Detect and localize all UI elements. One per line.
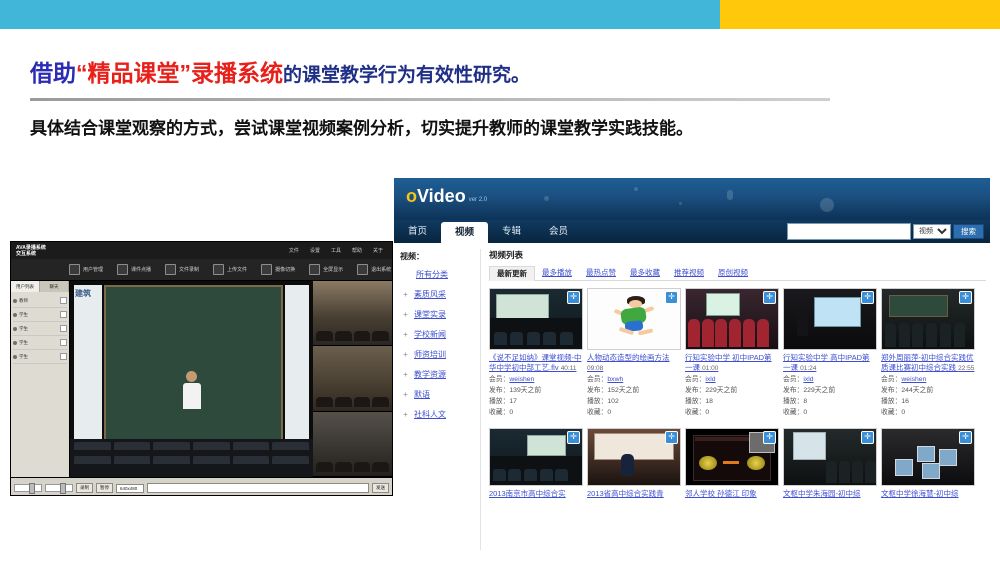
teacher-head [186, 371, 197, 382]
record-button[interactable]: 录制 [76, 483, 93, 493]
video-plays: 播放：17 [489, 397, 583, 407]
user-icon [13, 327, 17, 331]
record-icon [165, 264, 176, 275]
toolbar-button-exit[interactable]: 退出系统 [357, 264, 391, 275]
video-member: 会员：ixld [685, 375, 779, 385]
video-plays: 播放：8 [783, 397, 877, 407]
video-duration: 09:08 [587, 365, 603, 372]
toolbar-label-4: 摄像切换 [275, 266, 295, 273]
video-sort-tabs: 最新更新 最多播放 最热点赞 最多收藏 推荐视频 原创视频 [489, 265, 986, 281]
recorder-menu-about[interactable]: 关于 [373, 247, 383, 254]
tab-recommended[interactable]: 推荐视频 [667, 266, 711, 280]
sidebar-item-label: 师资培训 [414, 350, 446, 359]
add-to-album-icon[interactable]: ✛ [665, 431, 678, 444]
nav-item-album[interactable]: 专辑 [488, 220, 535, 243]
member-label: 会员： [489, 376, 509, 383]
published-value: 139天之前 [509, 387, 541, 394]
member-link[interactable]: ixld [803, 376, 813, 383]
video-title[interactable]: 2013省高中综合实践青 [587, 489, 681, 499]
tab-most-played[interactable]: 最多播放 [535, 266, 579, 280]
recorder-toolbar: 用户管理 课件点播 文件录制 上传文件 摄像切换 全屏显示 退出系统 [11, 259, 392, 281]
video-card[interactable]: ✛ 人物动态造型的绘画方法 09:08 会员：bxwh 发布：152天之前 播放… [587, 288, 681, 418]
video-plays: 播放：18 [685, 397, 779, 407]
published-label: 发布： [587, 387, 607, 394]
sidebar-item-school-news[interactable]: +学校新闻 [400, 329, 476, 340]
add-to-album-icon[interactable]: ✛ [861, 431, 874, 444]
toolbar-button-record-file[interactable]: 文件录制 [165, 264, 199, 275]
plus-icon[interactable]: + [403, 350, 408, 359]
toolbar-label-1: 课件点播 [131, 266, 151, 273]
sidebar-item-label: 学校新闻 [414, 330, 446, 339]
site-nav: 首页 视频 专辑 会员 视频 搜索 [394, 220, 990, 243]
recorder-body: 用户列表 聊天 教师 学生 学生 学生 [11, 281, 392, 477]
decorative-bubble [727, 190, 733, 200]
recorder-footer-controls: 录制 暂停 640x480 发送 [11, 477, 392, 496]
site-header: o Video ver 2.0 [394, 178, 990, 220]
slide-headline: 借助“精品课堂”录播系统的课堂教学行为有效性研究。 [30, 58, 890, 91]
people-icon [69, 264, 80, 275]
tab-latest[interactable]: 最新更新 [489, 266, 535, 281]
member-label: 会员： [783, 376, 803, 383]
tab-original[interactable]: 原创视频 [711, 266, 755, 280]
recorder-app-logo: AVA录播系统 交互系统 [14, 245, 46, 257]
video-title[interactable]: 文枢中学朱海园-初中综 [783, 489, 877, 499]
slide-top-accent-bar [0, 0, 1000, 29]
sidebar-item-silent-language[interactable]: +默语 [400, 389, 476, 400]
add-to-album-icon[interactable]: ✛ [567, 291, 580, 304]
checkbox-icon[interactable] [60, 325, 67, 332]
user-icon [13, 299, 17, 303]
toolbar-button-user-manage[interactable]: 用户管理 [69, 264, 103, 275]
video-member: 会员：weishen [489, 375, 583, 385]
seat-row [70, 453, 313, 467]
member-label: 会员： [587, 376, 607, 383]
video-thumbnail[interactable]: ✛ [783, 428, 877, 486]
page-title: 借助“精品课堂”录播系统的课堂教学行为有效性研究。 [30, 58, 890, 91]
list-icon [213, 264, 224, 275]
recorder-camera-thumbnails [313, 281, 392, 477]
video-title[interactable]: 郑外周丽萍-初中综合实践优质课比赛初中综合实践 22:55 [881, 353, 975, 374]
search-input[interactable] [787, 223, 911, 240]
recorder-menu-settings[interactable]: 设置 [310, 247, 320, 254]
sidebar-item-label: 教学资源 [414, 370, 446, 379]
video-card[interactable]: ✛ 行知实验中学 高中IPAD第一课 01:24 会员：ixld 发布：229天… [783, 288, 877, 418]
video-duration: 40:11 [561, 365, 577, 372]
plus-icon[interactable]: + [403, 410, 408, 419]
accent-bar-yellow [720, 0, 1000, 29]
favs-label: 收藏： [783, 409, 803, 416]
video-card[interactable]: ✛ 《说不足如纳》课堂视频-中华中学初中部工艺.flv 40:11 会员：wei… [489, 288, 583, 418]
plays-label: 播放： [783, 398, 803, 405]
user-row-label-1: 学生 [19, 312, 28, 318]
plays-value: 18 [705, 398, 713, 405]
list-item[interactable]: 学生 [13, 308, 67, 322]
toolbar-label-6: 退出系统 [371, 266, 391, 273]
recorder-window-menu[interactable]: 文件 设置 工具 帮助 关于 [289, 247, 389, 254]
user-row-label-0: 教师 [19, 298, 28, 304]
sidebar-item-teacher-training[interactable]: +师资培训 [400, 349, 476, 360]
title-part-3: 的课堂教学行为有效性研究。 [283, 65, 530, 86]
decorative-bubble [820, 198, 834, 212]
video-published: 发布：229天之前 [783, 386, 877, 396]
sidebar-item-teaching-resources[interactable]: +教学资源 [400, 369, 476, 380]
video-thumbnail[interactable]: ✛ [685, 428, 779, 486]
checkbox-icon[interactable] [60, 339, 67, 346]
tab-most-liked[interactable]: 最热点赞 [579, 266, 623, 280]
video-card[interactable]: ✛ 文枢中学徐海慧-初中综 [881, 428, 975, 499]
favs-value: 0 [901, 409, 905, 416]
plus-icon[interactable]: + [403, 290, 408, 299]
camera-icon [261, 264, 272, 275]
video-grid-row-2: ✛ 2013南京市高中综合实 ✛ 2013省高中综合实践青 [489, 428, 986, 499]
toolbar-button-fullscreen[interactable]: 全屏显示 [309, 264, 343, 275]
add-to-album-icon[interactable]: ✛ [959, 431, 972, 444]
recorder-panel-tabs[interactable]: 用户列表 聊天 [11, 281, 69, 292]
checkbox-icon[interactable] [60, 297, 67, 304]
add-to-album-icon[interactable]: ✛ [567, 431, 580, 444]
plus-icon[interactable]: + [403, 390, 408, 399]
logo-text: Video [417, 187, 466, 205]
sidebar-item-social-science[interactable]: +社科人文 [400, 409, 476, 420]
member-link[interactable]: bxwh [607, 376, 623, 383]
whiteboard-text: 建筑 [74, 285, 102, 302]
panel-tab-chat[interactable]: 聊天 [40, 281, 69, 292]
tab-most-favorited[interactable]: 最多收藏 [623, 266, 667, 280]
video-published: 发布：229天之前 [685, 386, 779, 396]
student-seats [70, 439, 313, 477]
add-to-album-icon[interactable]: ✛ [861, 291, 874, 304]
message-input[interactable] [147, 483, 369, 493]
video-thumbnail[interactable]: ✛ [587, 288, 681, 350]
published-value: 229天之前 [705, 387, 737, 394]
logo-o-letter: o [406, 187, 417, 205]
recorder-user-panel: 用户列表 聊天 教师 学生 学生 学生 [11, 281, 70, 477]
video-card[interactable]: ✛ 2013省高中综合实践青 [587, 428, 681, 499]
video-thumbnail[interactable]: ✛ [489, 288, 583, 350]
user-icon [13, 355, 17, 359]
video-member: 会员：weishen [881, 375, 975, 385]
video-title[interactable]: 行知实验中学 初中IPAD第一课 01:00 [685, 353, 779, 374]
recorder-titlebar: AVA录播系统 交互系统 文件 设置 工具 帮助 关于 [11, 242, 392, 259]
logo-version: ver 2.0 [469, 197, 487, 203]
recorder-app-name-line2: 交互系统 [16, 251, 46, 257]
volume-slider-2[interactable] [45, 484, 73, 492]
sidebar-title: 视频： [400, 251, 476, 262]
user-row-label-3: 学生 [19, 340, 28, 346]
sidebar-item-quality-style[interactable]: +素质风采 [400, 289, 476, 300]
video-member: 会员：ixld [783, 375, 877, 385]
plays-value: 17 [509, 398, 517, 405]
nav-item-member[interactable]: 会员 [535, 220, 582, 243]
plus-icon[interactable]: + [403, 310, 408, 319]
video-title-text: 行知实验中学 初中IPAD第一课 [685, 353, 772, 372]
site-body: 视频： 所有分类 +素质风采 +课堂实录 +学校新闻 +师资培训 +教学资源 +… [394, 243, 990, 550]
published-value: 152天之前 [607, 387, 639, 394]
plays-label: 播放： [685, 398, 705, 405]
published-value: 244天之前 [901, 387, 933, 394]
list-item[interactable]: 学生 [13, 322, 67, 336]
toolbar-button-camera-switch[interactable]: 摄像切换 [261, 264, 295, 275]
video-thumbnail[interactable]: ✛ [587, 428, 681, 486]
video-title[interactable]: 《说不足如纳》课堂视频-中华中学初中部工艺.flv 40:11 [489, 353, 583, 374]
video-card[interactable]: ✛ 邻人学校 孙德江 印象 [685, 428, 779, 499]
sidebar-item-label: 社科人文 [414, 410, 446, 419]
video-list-content: 视频列表 最新更新 最多播放 最热点赞 最多收藏 推荐视频 原创视频 [481, 249, 990, 550]
video-title-text: 人物动态造型的绘画方法 [587, 353, 670, 362]
video-card[interactable]: ✛ 行知实验中学 初中IPAD第一课 01:00 会员：ixld 发布：229天… [685, 288, 779, 418]
video-title[interactable]: 2013南京市高中综合实 [489, 489, 583, 499]
plays-label: 播放： [587, 398, 607, 405]
camera-thumb-1[interactable] [313, 281, 392, 346]
member-link[interactable]: weishen [509, 376, 534, 383]
resolution-select[interactable]: 640x480 [116, 484, 144, 493]
video-title[interactable]: 邻人学校 孙德江 印象 [685, 489, 779, 499]
send-button[interactable]: 发送 [372, 483, 389, 493]
title-divider [30, 98, 830, 101]
teacher-body [183, 383, 201, 409]
sidebar: 视频： 所有分类 +素质风采 +课堂实录 +学校新闻 +师资培训 +教学资源 +… [394, 249, 481, 550]
add-to-album-icon[interactable]: ✛ [763, 291, 776, 304]
sidebar-item-label: 默语 [414, 390, 430, 399]
toolbar-button-upload[interactable]: 上传文件 [213, 264, 247, 275]
favs-label: 收藏： [587, 409, 607, 416]
video-favs: 收藏：0 [881, 408, 975, 418]
board-icon [117, 264, 128, 275]
published-value: 229天之前 [803, 387, 835, 394]
add-to-album-icon[interactable]: ✛ [763, 431, 776, 444]
search-button[interactable]: 搜索 [953, 224, 984, 239]
video-thumbnail[interactable]: ✛ [881, 288, 975, 350]
recorder-menu-file[interactable]: 文件 [289, 247, 299, 254]
user-row-label-2: 学生 [19, 326, 28, 332]
favs-value: 0 [607, 409, 611, 416]
decorative-bubble [634, 187, 638, 191]
video-published: 发布：244天之前 [881, 386, 975, 396]
published-label: 发布： [881, 387, 901, 394]
recorder-user-list: 教师 学生 学生 学生 学生 [11, 292, 69, 364]
video-grid-row-1: ✛ 《说不足如纳》课堂视频-中华中学初中部工艺.flv 40:11 会员：wei… [489, 288, 986, 418]
video-title[interactable]: 行知实验中学 高中IPAD第一课 01:24 [783, 353, 877, 374]
favs-label: 收藏： [489, 409, 509, 416]
nav-item-home[interactable]: 首页 [394, 220, 441, 243]
member-link[interactable]: weishen [901, 376, 926, 383]
video-thumbnail[interactable]: ✛ [881, 428, 975, 486]
panel-tab-user-list[interactable]: 用户列表 [11, 281, 40, 292]
member-link[interactable]: ixld [705, 376, 715, 383]
member-label: 会员： [685, 376, 705, 383]
favs-value: 0 [509, 409, 513, 416]
camera-thumb-2[interactable] [313, 346, 392, 411]
recorder-menu-tools[interactable]: 工具 [331, 247, 341, 254]
published-label: 发布： [783, 387, 803, 394]
favs-value: 0 [705, 409, 709, 416]
plays-label: 播放： [881, 398, 901, 405]
recording-system-screenshot: AVA录播系统 交互系统 文件 设置 工具 帮助 关于 用户管理 课件点播 文件… [10, 241, 393, 496]
video-published: 发布：139天之前 [489, 386, 583, 396]
video-duration: 01:24 [800, 365, 816, 372]
user-row-label-4: 学生 [19, 354, 28, 360]
plays-value: 16 [901, 398, 909, 405]
favs-value: 0 [803, 409, 807, 416]
plus-icon[interactable]: + [403, 370, 408, 379]
video-favs: 收藏：0 [489, 408, 583, 418]
exit-icon [357, 264, 368, 275]
camera-thumb-3[interactable] [313, 412, 392, 477]
thumb-figures [313, 462, 392, 472]
published-label: 发布： [489, 387, 509, 394]
video-duration: 22:55 [958, 365, 974, 372]
list-item[interactable]: 学生 [13, 350, 67, 364]
toolbar-label-0: 用户管理 [83, 266, 103, 273]
toolbar-label-5: 全屏显示 [323, 266, 343, 273]
screen-icon [309, 264, 320, 275]
sidebar-item-classroom-record[interactable]: +课堂实录 [400, 309, 476, 320]
list-item[interactable]: 教师 [13, 294, 67, 308]
decorative-bubble [679, 202, 682, 205]
video-card[interactable]: ✛ 文枢中学朱海园-初中综 [783, 428, 877, 499]
content-heading: 视频列表 [489, 249, 986, 261]
title-part-1: 借助 [30, 60, 76, 86]
volume-slider-1[interactable] [14, 484, 42, 492]
search-area: 视频 搜索 [787, 223, 984, 240]
video-favs: 收藏：0 [587, 408, 681, 418]
video-card[interactable]: ✛ 2013南京市高中综合实 [489, 428, 583, 499]
video-favs: 收藏：0 [783, 408, 877, 418]
favs-label: 收藏： [881, 409, 901, 416]
video-published: 发布：152天之前 [587, 386, 681, 396]
published-label: 发布： [685, 387, 705, 394]
search-scope-select[interactable]: 视频 [913, 224, 951, 239]
pause-button[interactable]: 暂停 [96, 483, 113, 493]
user-icon [13, 313, 17, 317]
video-title-text: 行知实验中学 高中IPAD第一课 [783, 353, 870, 372]
teacher-figure [183, 371, 201, 415]
video-thumbnail[interactable]: ✛ [783, 288, 877, 350]
video-card[interactable]: ✛ 郑外周丽萍-初中综合实践优质课比赛初中综合实践 22:55 会员：weish… [881, 288, 975, 418]
toolbar-label-2: 文件录制 [179, 266, 199, 273]
title-part-2: “精品课堂”录播系统 [76, 60, 283, 86]
recorder-menu-help[interactable]: 帮助 [352, 247, 362, 254]
add-to-album-icon[interactable]: ✛ [665, 291, 678, 304]
plus-icon[interactable]: + [403, 330, 408, 339]
thumb-figures [313, 331, 392, 341]
plays-value: 8 [803, 398, 807, 405]
video-thumbnail[interactable]: ✛ [489, 428, 583, 486]
toolbar-label-3: 上传文件 [227, 266, 247, 273]
decorative-bubble [544, 196, 549, 201]
page-subtitle: 具体结合课堂观察的方式，尝试课堂视频案例分析，切实提升教师的课堂教学实践技能。 [30, 117, 693, 141]
video-title[interactable]: 人物动态造型的绘画方法 09:08 [587, 353, 681, 374]
video-title[interactable]: 文枢中学徐海慧-初中综 [881, 489, 975, 499]
nav-item-video[interactable]: 视频 [441, 222, 488, 243]
seat-row [70, 439, 313, 453]
sidebar-item-label: 素质风采 [414, 290, 446, 299]
ovideo-website-screenshot: o Video ver 2.0 首页 视频 专辑 会员 视频 搜索 视频： 所有… [394, 178, 990, 550]
accent-bar-cyan [0, 0, 720, 29]
recorder-main-video[interactable]: 建筑 [70, 281, 313, 477]
thumb-figures [313, 397, 392, 407]
plays-label: 播放： [489, 398, 509, 405]
video-plays: 播放：16 [881, 397, 975, 407]
video-thumbnail[interactable]: ✛ [685, 288, 779, 350]
checkbox-icon[interactable] [60, 311, 67, 318]
list-item[interactable]: 学生 [13, 336, 67, 350]
user-icon [13, 341, 17, 345]
favs-label: 收藏： [685, 409, 705, 416]
site-logo[interactable]: o Video ver 2.0 [406, 187, 487, 205]
checkbox-icon[interactable] [60, 353, 67, 360]
sidebar-item-label: 课堂实录 [414, 310, 446, 319]
video-favs: 收藏：0 [685, 408, 779, 418]
plays-value: 102 [607, 398, 618, 405]
video-member: 会员：bxwh [587, 375, 681, 385]
toolbar-button-courseware[interactable]: 课件点播 [117, 264, 151, 275]
sidebar-item-all-categories[interactable]: 所有分类 [400, 269, 476, 280]
add-to-album-icon[interactable]: ✛ [959, 291, 972, 304]
video-plays: 播放：102 [587, 397, 681, 407]
video-duration: 01:00 [702, 365, 718, 372]
member-label: 会员： [881, 376, 901, 383]
